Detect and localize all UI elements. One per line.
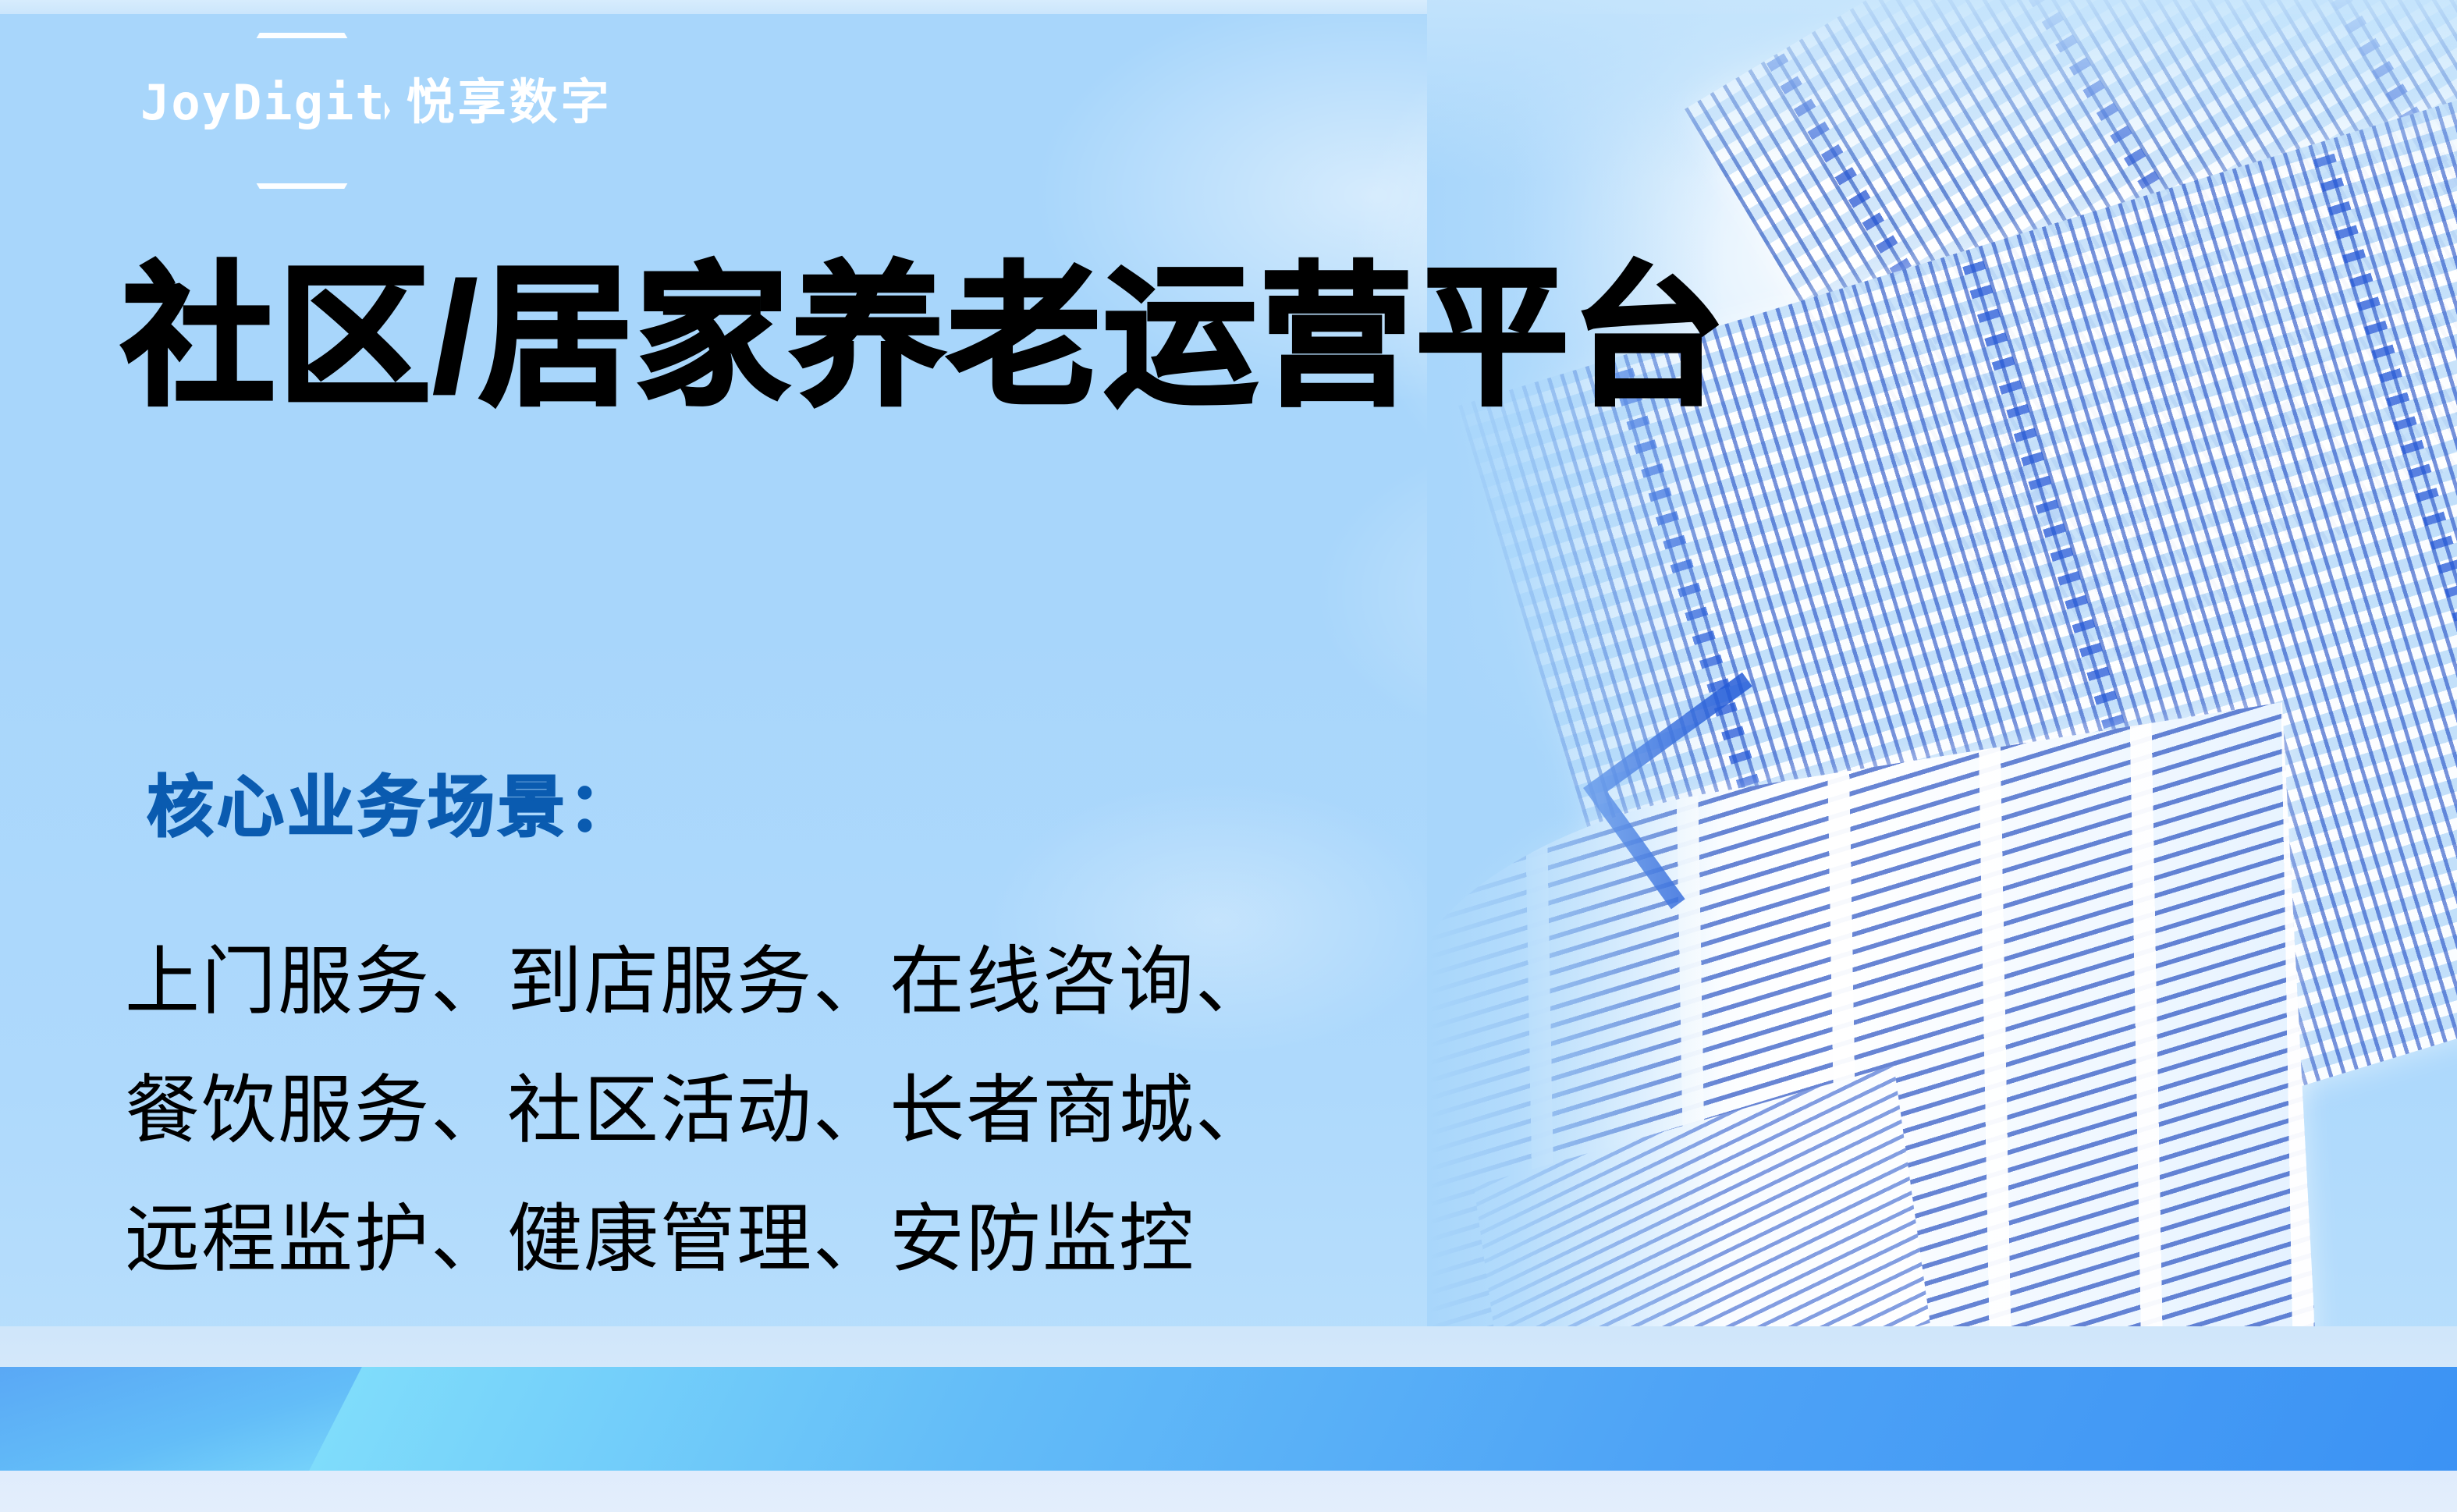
scenario-line-3: 远程监护、健康管理、安防监控	[125, 1175, 1272, 1304]
logo-wordmark-en: JoyDigit	[140, 79, 386, 127]
page-title: 社区/居家养老运营平台	[122, 257, 1727, 418]
bottom-decorative-band	[0, 1326, 2457, 1512]
scenario-list: 上门服务、到店服务、在线咨询、 餐饮服务、社区活动、长者商城、 远程监护、健康管…	[125, 917, 1272, 1304]
skyscraper-photo	[1427, 0, 2457, 1397]
scenario-line-2: 餐饮服务、社区活动、长者商城、	[125, 1046, 1272, 1175]
brand-logo[interactable]: JoyDigit 悦享数字	[140, 67, 612, 139]
slide-canvas: JoyDigit 悦享数字 社区/居家养老运营平台 核心业务场景： 上门服务、到…	[0, 0, 2457, 1512]
section-heading: 核心业务场景：	[147, 771, 638, 845]
scenario-line-1: 上门服务、到店服务、在线咨询、	[125, 917, 1272, 1046]
logo-wordmark-cn: 悦享数字	[407, 79, 612, 127]
band-parallelogram-right	[309, 1367, 2457, 1471]
